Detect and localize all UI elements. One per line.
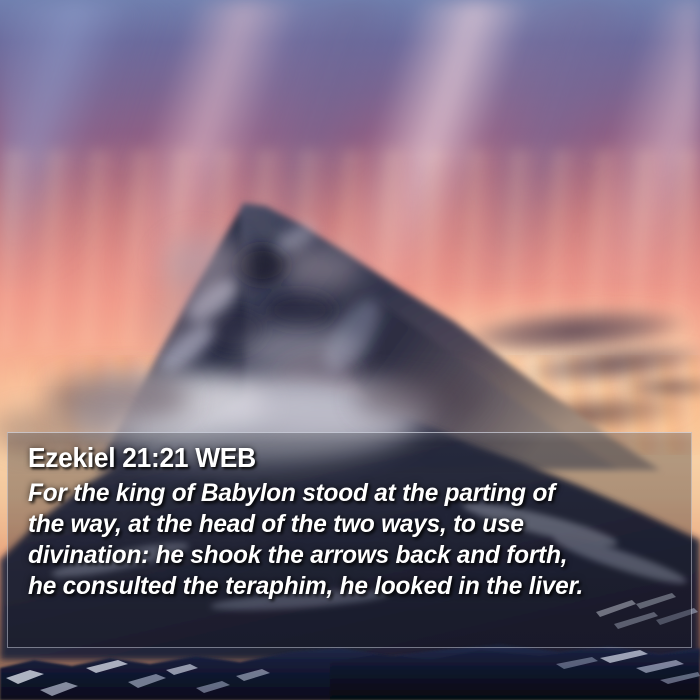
verse-text-line: the way, at the head of the two ways, to… <box>28 509 657 540</box>
verse-image: Ezekiel 21:21 WEB For the king of Babylo… <box>0 0 700 700</box>
verse-text-line: he consulted the teraphim, he looked in … <box>28 571 657 602</box>
verse-reference-title: Ezekiel 21:21 WEB <box>28 441 634 475</box>
verse-text: For the king of Babylon stood at the par… <box>28 478 657 602</box>
verse-text-line: For the king of Babylon stood at the par… <box>28 478 657 509</box>
verse-text-line: divination: he shook the arrows back and… <box>28 540 657 571</box>
verse-overlay-panel: Ezekiel 21:21 WEB For the king of Babylo… <box>7 432 692 648</box>
